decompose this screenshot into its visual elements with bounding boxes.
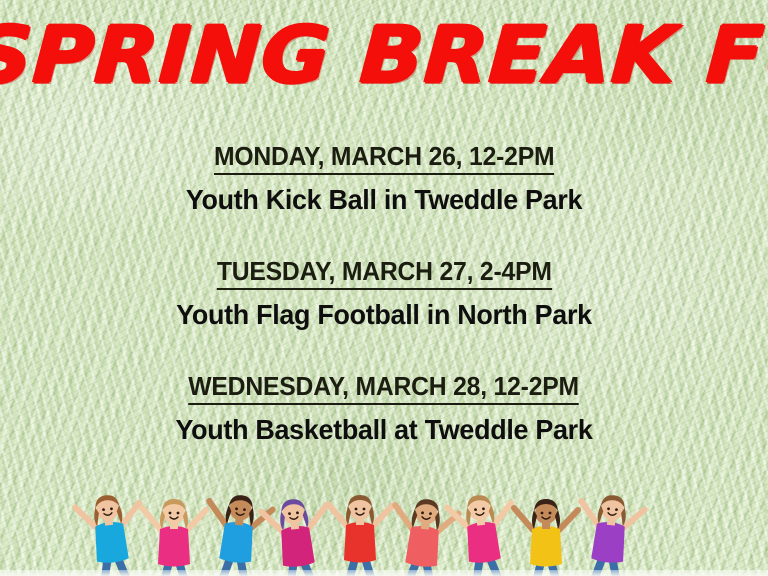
poster-title: SPRING BREAK FUN! <box>0 8 768 104</box>
event-item: TUESDAY, MARCH 27, 2-4PM Youth Flag Foot… <box>0 255 768 332</box>
child-figure <box>328 495 392 576</box>
child-figure <box>142 499 206 576</box>
event-list: MONDAY, MARCH 26, 12-2PM Youth Kick Ball… <box>0 140 768 447</box>
event-datetime: MONDAY, MARCH 26, 12-2PM <box>214 140 554 175</box>
child-figure <box>446 492 518 576</box>
poster-title-area: SPRING BREAK FUN! <box>0 8 768 104</box>
jumping-children-photo <box>0 490 768 576</box>
children-figures <box>74 492 646 576</box>
event-datetime: TUESDAY, MARCH 27, 2-4PM <box>217 255 552 290</box>
child-figure <box>74 492 146 576</box>
event-description: Youth Flag Football in North Park <box>15 298 752 332</box>
event-item: WEDNESDAY, MARCH 28, 12-2PM Youth Basket… <box>0 370 768 447</box>
child-figure <box>201 492 273 576</box>
poster-canvas: SPRING BREAK FUN! MONDAY, MARCH 26, 12-2… <box>0 0 768 576</box>
child-figure <box>573 492 645 576</box>
event-item: MONDAY, MARCH 26, 12-2PM Youth Kick Ball… <box>0 140 768 217</box>
child-figure <box>514 499 578 576</box>
event-description: Youth Kick Ball in Tweddle Park <box>15 183 752 217</box>
event-description: Youth Basketball at Tweddle Park <box>15 413 752 447</box>
event-datetime: WEDNESDAY, MARCH 28, 12-2PM <box>189 370 580 405</box>
ground-band <box>0 570 768 576</box>
